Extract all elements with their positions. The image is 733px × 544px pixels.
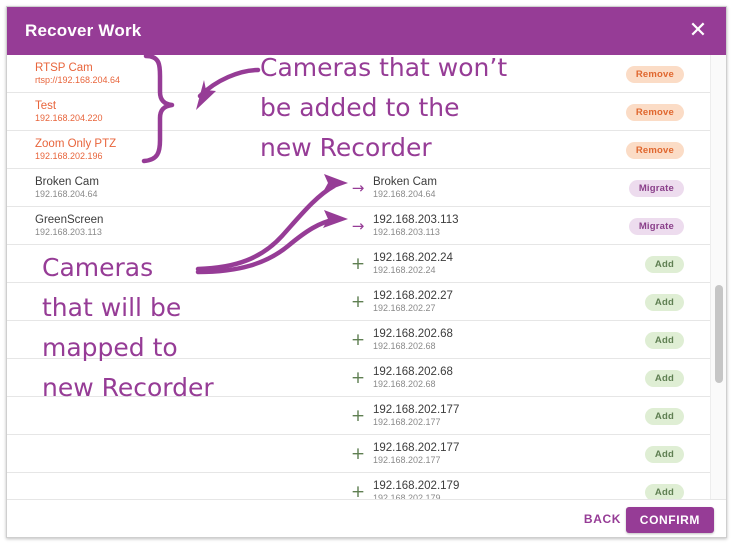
row-target-camera: +192.168.202.179192.168.202.179 xyxy=(347,473,597,501)
row-target-address: 192.168.202.68 xyxy=(373,379,453,390)
plus-icon: + xyxy=(347,408,369,425)
row-target-address: 192.168.202.27 xyxy=(373,303,453,314)
row-target-camera: →192.168.203.113192.168.203.113 xyxy=(347,207,597,245)
row-action-cell: Migrate xyxy=(629,207,684,245)
row-source-name: Test xyxy=(35,100,295,113)
row-action-cell: Add xyxy=(645,473,684,501)
annotation-text-bottom: Cameras that will be mapped to new Recor… xyxy=(42,248,214,408)
confirm-button[interactable]: CONFIRM xyxy=(626,507,714,533)
row-target-address: 192.168.204.64 xyxy=(373,189,437,200)
table-row[interactable]: GreenScreen192.168.203.113→192.168.203.1… xyxy=(7,207,712,245)
row-target-camera: +192.168.202.177192.168.202.177 xyxy=(347,435,597,473)
row-action-cell: Add xyxy=(645,397,684,435)
row-source-camera: Test192.168.204.220 xyxy=(35,93,295,131)
row-target-name: Broken Cam xyxy=(373,176,437,189)
screenshot-root: Recover Work ✕ RTSP Camrtsp://192.168.20… xyxy=(0,0,733,544)
table-row[interactable]: +192.168.202.177192.168.202.177Add xyxy=(7,435,712,473)
list-scrollbar-track[interactable] xyxy=(710,55,726,501)
row-target-address: 192.168.202.177 xyxy=(373,417,459,428)
status-badge-remove[interactable]: Remove xyxy=(626,66,684,83)
table-row[interactable]: +192.168.202.179192.168.202.179Add xyxy=(7,473,712,501)
row-target-address: 192.168.203.113 xyxy=(373,227,458,238)
row-source-camera: RTSP Camrtsp://192.168.204.64 xyxy=(35,55,295,93)
row-target-camera: →Broken Cam192.168.204.64 xyxy=(347,169,597,207)
status-badge-remove[interactable]: Remove xyxy=(626,104,684,121)
row-target-camera: +192.168.202.68192.168.202.68 xyxy=(347,359,597,397)
row-target-name: 192.168.202.177 xyxy=(373,442,459,455)
status-badge-add[interactable]: Add xyxy=(645,446,684,463)
row-target-name: 192.168.202.177 xyxy=(373,404,459,417)
row-action-cell: Migrate xyxy=(629,169,684,207)
row-source-address: 192.168.204.220 xyxy=(35,113,295,124)
plus-icon: + xyxy=(347,484,369,501)
row-source-name: GreenScreen xyxy=(35,214,295,227)
annotation-text-top: Cameras that won’t be added to the new R… xyxy=(260,48,507,168)
row-target-camera: +192.168.202.27192.168.202.27 xyxy=(347,283,597,321)
status-badge-add[interactable]: Add xyxy=(645,256,684,273)
row-target-address: 192.168.202.68 xyxy=(373,341,453,352)
status-badge-add[interactable]: Add xyxy=(645,484,684,501)
row-source-address: 192.168.203.113 xyxy=(35,227,295,238)
row-action-cell: Add xyxy=(645,435,684,473)
row-target-name: 192.168.202.68 xyxy=(373,366,453,379)
table-row[interactable]: Broken Cam192.168.204.64→Broken Cam192.1… xyxy=(7,169,712,207)
row-target-name: 192.168.202.68 xyxy=(373,328,453,341)
row-source-camera: GreenScreen192.168.203.113 xyxy=(35,207,295,245)
arrow-right-icon: → xyxy=(347,219,369,234)
list-scrollbar-thumb[interactable] xyxy=(715,285,723,383)
row-source-camera xyxy=(35,435,295,473)
row-source-address: 192.168.204.64 xyxy=(35,189,295,200)
row-action-cell: Remove xyxy=(626,93,684,131)
status-badge-migrate[interactable]: Migrate xyxy=(629,218,684,235)
plus-icon: + xyxy=(347,446,369,463)
row-source-name: Zoom Only PTZ xyxy=(35,138,295,151)
row-action-cell: Remove xyxy=(626,55,684,93)
status-badge-add[interactable]: Add xyxy=(645,370,684,387)
status-badge-remove[interactable]: Remove xyxy=(626,142,684,159)
row-target-camera: +192.168.202.24192.168.202.24 xyxy=(347,245,597,283)
plus-icon: + xyxy=(347,294,369,311)
row-target-address: 192.168.202.24 xyxy=(373,265,453,276)
dialog-footer: BACK CONFIRM xyxy=(7,499,727,537)
row-source-address: rtsp://192.168.204.64 xyxy=(35,75,295,86)
status-badge-add[interactable]: Add xyxy=(645,332,684,349)
row-source-name: RTSP Cam xyxy=(35,62,295,75)
arrow-right-icon: → xyxy=(347,181,369,196)
row-target-name: 192.168.202.179 xyxy=(373,480,459,493)
row-target-camera: +192.168.202.68192.168.202.68 xyxy=(347,321,597,359)
close-icon[interactable]: ✕ xyxy=(680,7,716,55)
row-target-name: 192.168.203.113 xyxy=(373,214,458,227)
status-badge-migrate[interactable]: Migrate xyxy=(629,180,684,197)
row-target-address: 192.168.202.177 xyxy=(373,455,459,466)
row-source-address: 192.168.202.196 xyxy=(35,151,295,162)
row-source-camera: Zoom Only PTZ192.168.202.196 xyxy=(35,131,295,169)
back-button[interactable]: BACK xyxy=(584,500,621,538)
row-target-camera: +192.168.202.177192.168.202.177 xyxy=(347,397,597,435)
row-action-cell: Add xyxy=(645,359,684,397)
plus-icon: + xyxy=(347,256,369,273)
dialog-title: Recover Work xyxy=(25,7,141,55)
status-badge-add[interactable]: Add xyxy=(645,408,684,425)
row-target-name: 192.168.202.27 xyxy=(373,290,453,303)
row-target-name: 192.168.202.24 xyxy=(373,252,453,265)
row-source-name: Broken Cam xyxy=(35,176,295,189)
row-source-camera: Broken Cam192.168.204.64 xyxy=(35,169,295,207)
row-action-cell: Add xyxy=(645,283,684,321)
plus-icon: + xyxy=(347,370,369,387)
row-source-camera xyxy=(35,473,295,501)
row-action-cell: Remove xyxy=(626,131,684,169)
row-action-cell: Add xyxy=(645,321,684,359)
status-badge-add[interactable]: Add xyxy=(645,294,684,311)
row-action-cell: Add xyxy=(645,245,684,283)
plus-icon: + xyxy=(347,332,369,349)
